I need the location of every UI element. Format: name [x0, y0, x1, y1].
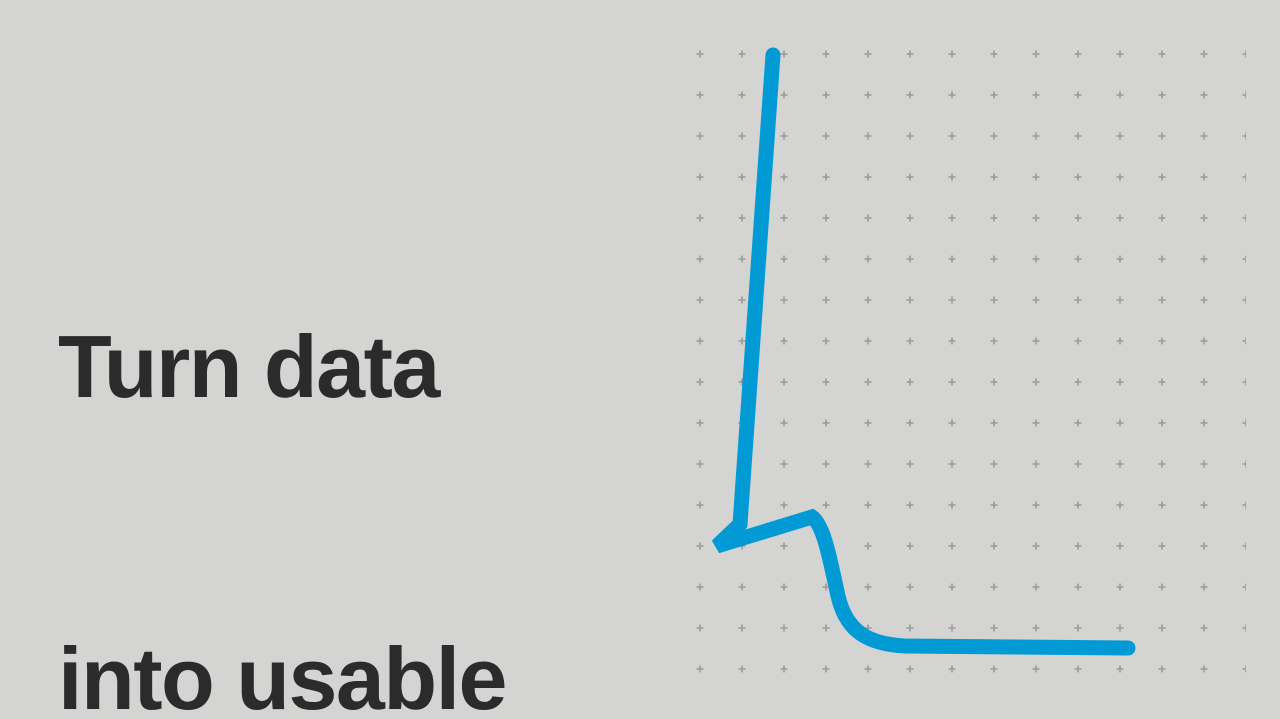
dot-grid-background: [686, 30, 1246, 690]
headline-line-2: into usable: [58, 627, 638, 719]
grid-plus-marks: [697, 51, 1247, 673]
slide-canvas: Turn data into usable knowledge.: [0, 0, 1280, 719]
headline-line-1: Turn data: [58, 315, 638, 419]
dot-grid-svg: [686, 30, 1246, 690]
page-title: Turn data into usable knowledge.: [58, 107, 638, 719]
